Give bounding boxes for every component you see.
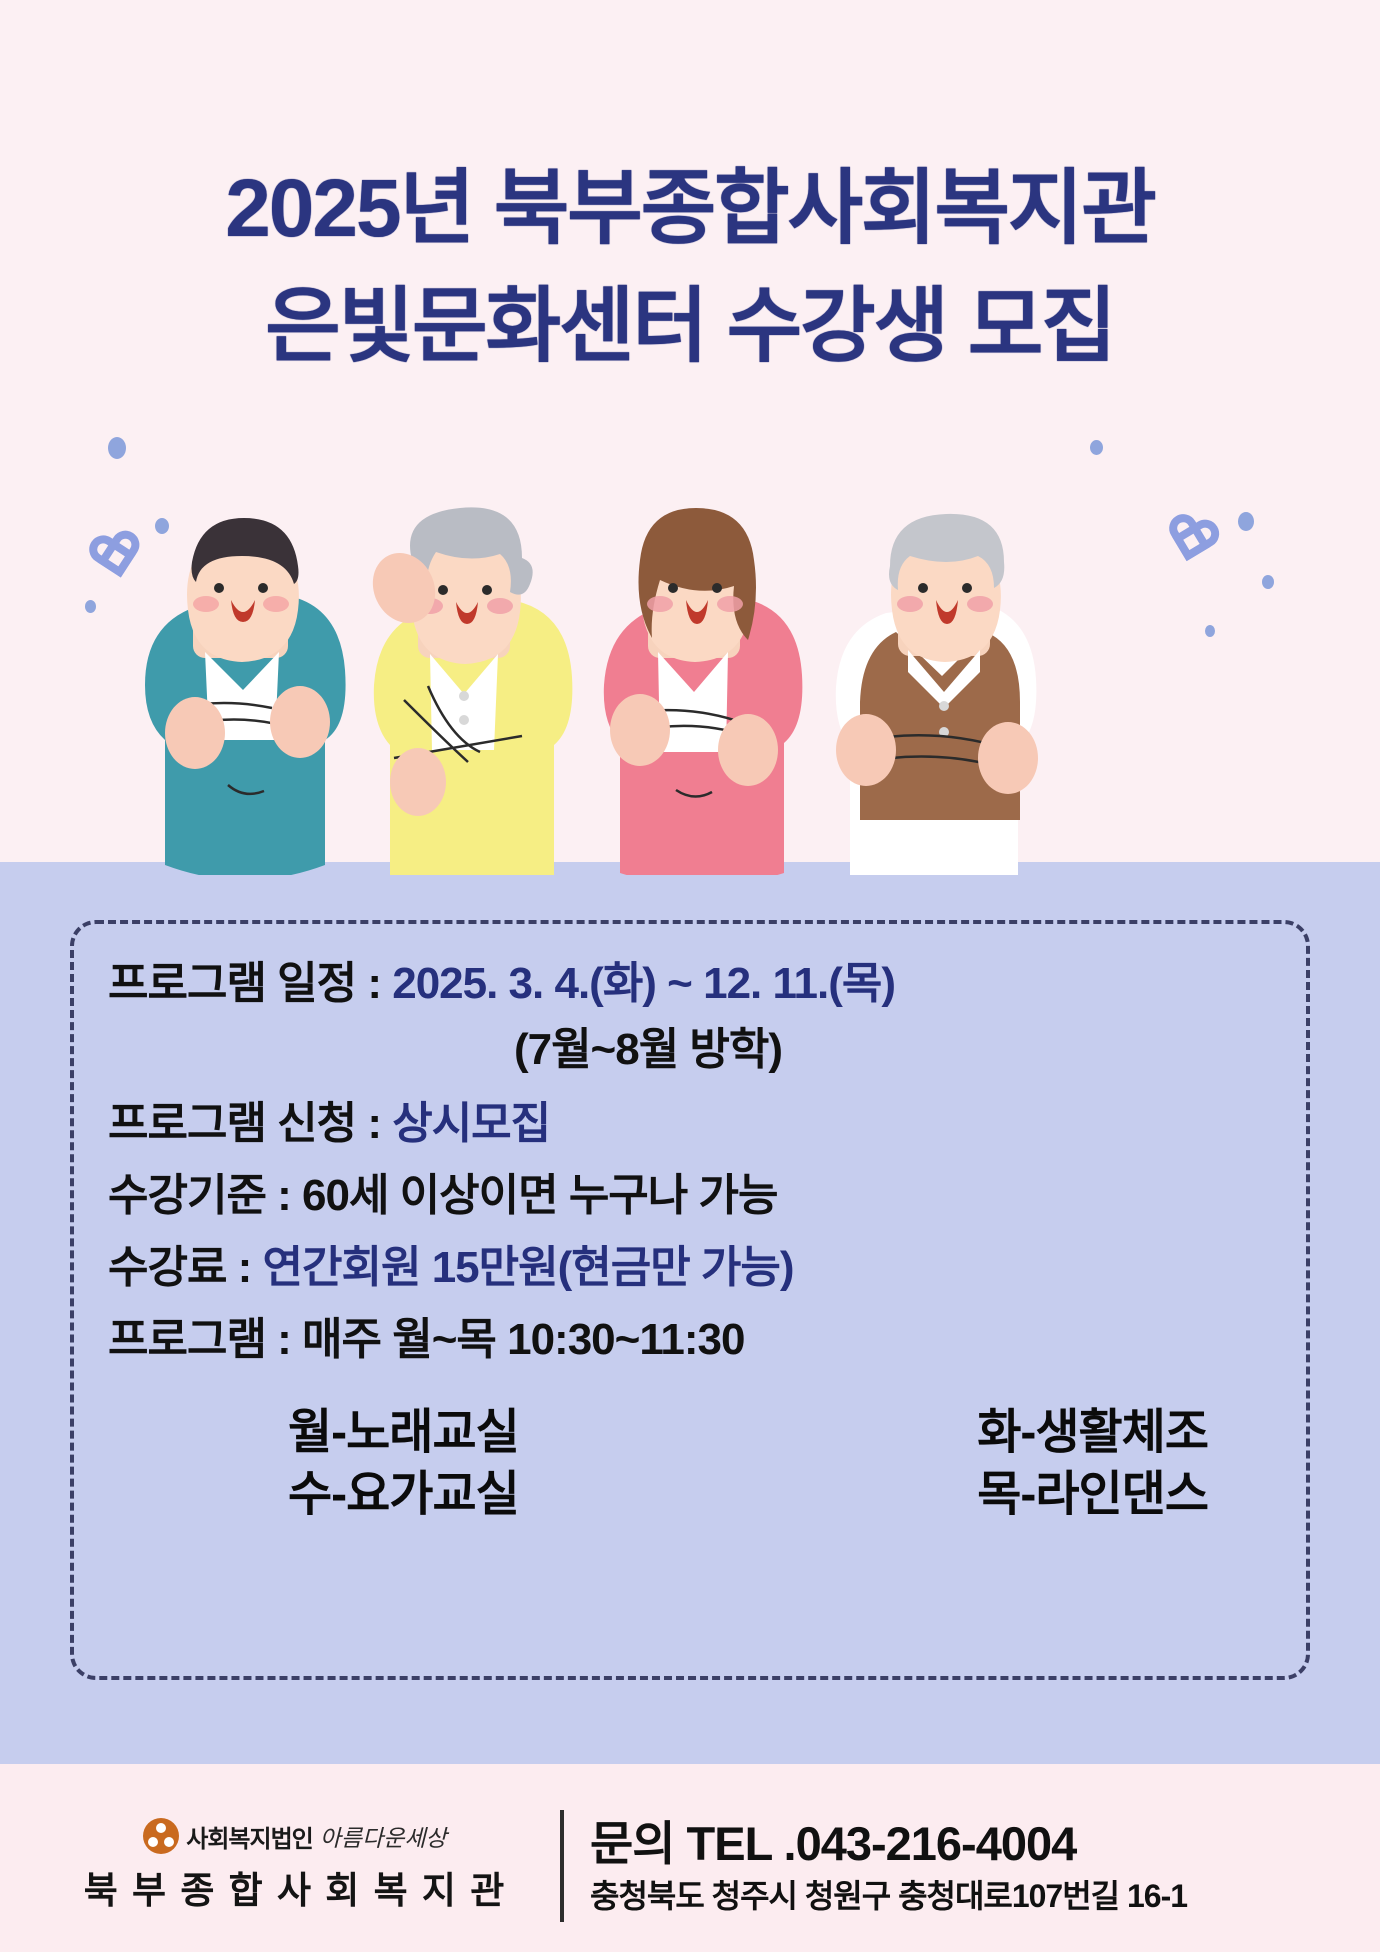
apply-value: 상시모집 — [392, 1099, 550, 1148]
contact-tel: 문의 TEL .043-216-4004 — [590, 1814, 1380, 1874]
dot-doodle-7 — [1090, 440, 1103, 455]
contact-block: 문의 TEL .043-216-4004 충청북도 청주시 청원구 충청대로10… — [590, 1814, 1380, 1918]
person-2 — [362, 507, 573, 875]
class-item-thu: 목-라인댄스 — [977, 1464, 1208, 1526]
schedule-value: 2025. 3. 4.(화) ~ 12. 11.(목) — [392, 959, 895, 1008]
info-row-fee: 수강료 : 연간회원 15만원(현금만 가능) — [108, 1242, 1278, 1294]
class-item-wed: 수-요가교실 — [288, 1464, 519, 1526]
info-row-apply: 프로그램 신청 : 상시모집 — [108, 1098, 1278, 1150]
person-3 — [604, 508, 803, 875]
footer-divider — [560, 1810, 564, 1922]
poster-title: 2025년 북부종합사회복지관 은빛문화센터 수강생 모집 — [0, 150, 1380, 386]
poster-root: 2025년 북부종합사회복지관 은빛문화센터 수강생 모집 — [0, 0, 1380, 1952]
class-schedule-grid: 월-노래교실 수-요가교실 화-생활체조 목-라인댄스 — [108, 1386, 1278, 1526]
schedule-label: 프로그램 일정 : — [108, 959, 392, 1008]
contact-address: 충청북도 청주시 청원구 충청대로107번길 16-1 — [590, 1874, 1380, 1918]
info-row-eligibility: 수강기준 : 60세 이상이면 누구나 가능 — [108, 1170, 1278, 1222]
apply-label: 프로그램 신청 : — [108, 1099, 392, 1148]
class-column-right: 화-생활체조 목-라인댄스 — [977, 1402, 1208, 1526]
eligibility-label: 수강기준 : — [108, 1171, 302, 1220]
logo-slogan: 아름다운세상 — [320, 1819, 447, 1853]
person-4 — [836, 514, 1038, 875]
seniors-illustration — [0, 500, 1380, 875]
organization-logo: 사회복지법인 아름다운세상 북 부 종 합 사 회 복 지 관 — [0, 1818, 560, 1914]
title-line-1: 2025년 북부종합사회복지관 — [0, 150, 1380, 268]
class-item-tue: 화-생활체조 — [977, 1402, 1208, 1464]
program-info-box: 프로그램 일정 : 2025. 3. 4.(화) ~ 12. 11.(목) (7… — [70, 920, 1310, 1680]
logo-corp-type: 사회복지법인 — [186, 1819, 312, 1854]
title-line-2: 은빛문화센터 수강생 모집 — [0, 268, 1380, 386]
info-row-schedule: 프로그램 일정 : 2025. 3. 4.(화) ~ 12. 11.(목) — [108, 958, 1278, 1010]
class-column-left: 월-노래교실 수-요가교실 — [288, 1402, 519, 1526]
class-item-mon: 월-노래교실 — [288, 1402, 519, 1464]
program-value: 매주 월~목 10:30~11:30 — [302, 1315, 744, 1364]
eligibility-value: 60세 이상이면 누구나 가능 — [302, 1171, 777, 1220]
dot-doodle-1 — [108, 437, 126, 459]
logo-top-row: 사회복지법인 아름다운세상 — [30, 1818, 560, 1854]
program-label: 프로그램 : — [108, 1315, 302, 1364]
person-1 — [145, 518, 346, 875]
fee-value: 연간회원 15만원(현금만 가능) — [263, 1243, 794, 1292]
poster-footer: 사회복지법인 아름다운세상 북 부 종 합 사 회 복 지 관 문의 TEL .… — [0, 1780, 1380, 1952]
fee-label: 수강료 : — [108, 1243, 263, 1292]
schedule-note: (7월~8월 방학) — [108, 1024, 1278, 1076]
three-dots-circle-icon — [143, 1818, 179, 1854]
info-row-program: 프로그램 : 매주 월~목 10:30~11:30 — [108, 1314, 1278, 1366]
logo-center-name: 북 부 종 합 사 회 복 지 관 — [30, 1860, 560, 1914]
